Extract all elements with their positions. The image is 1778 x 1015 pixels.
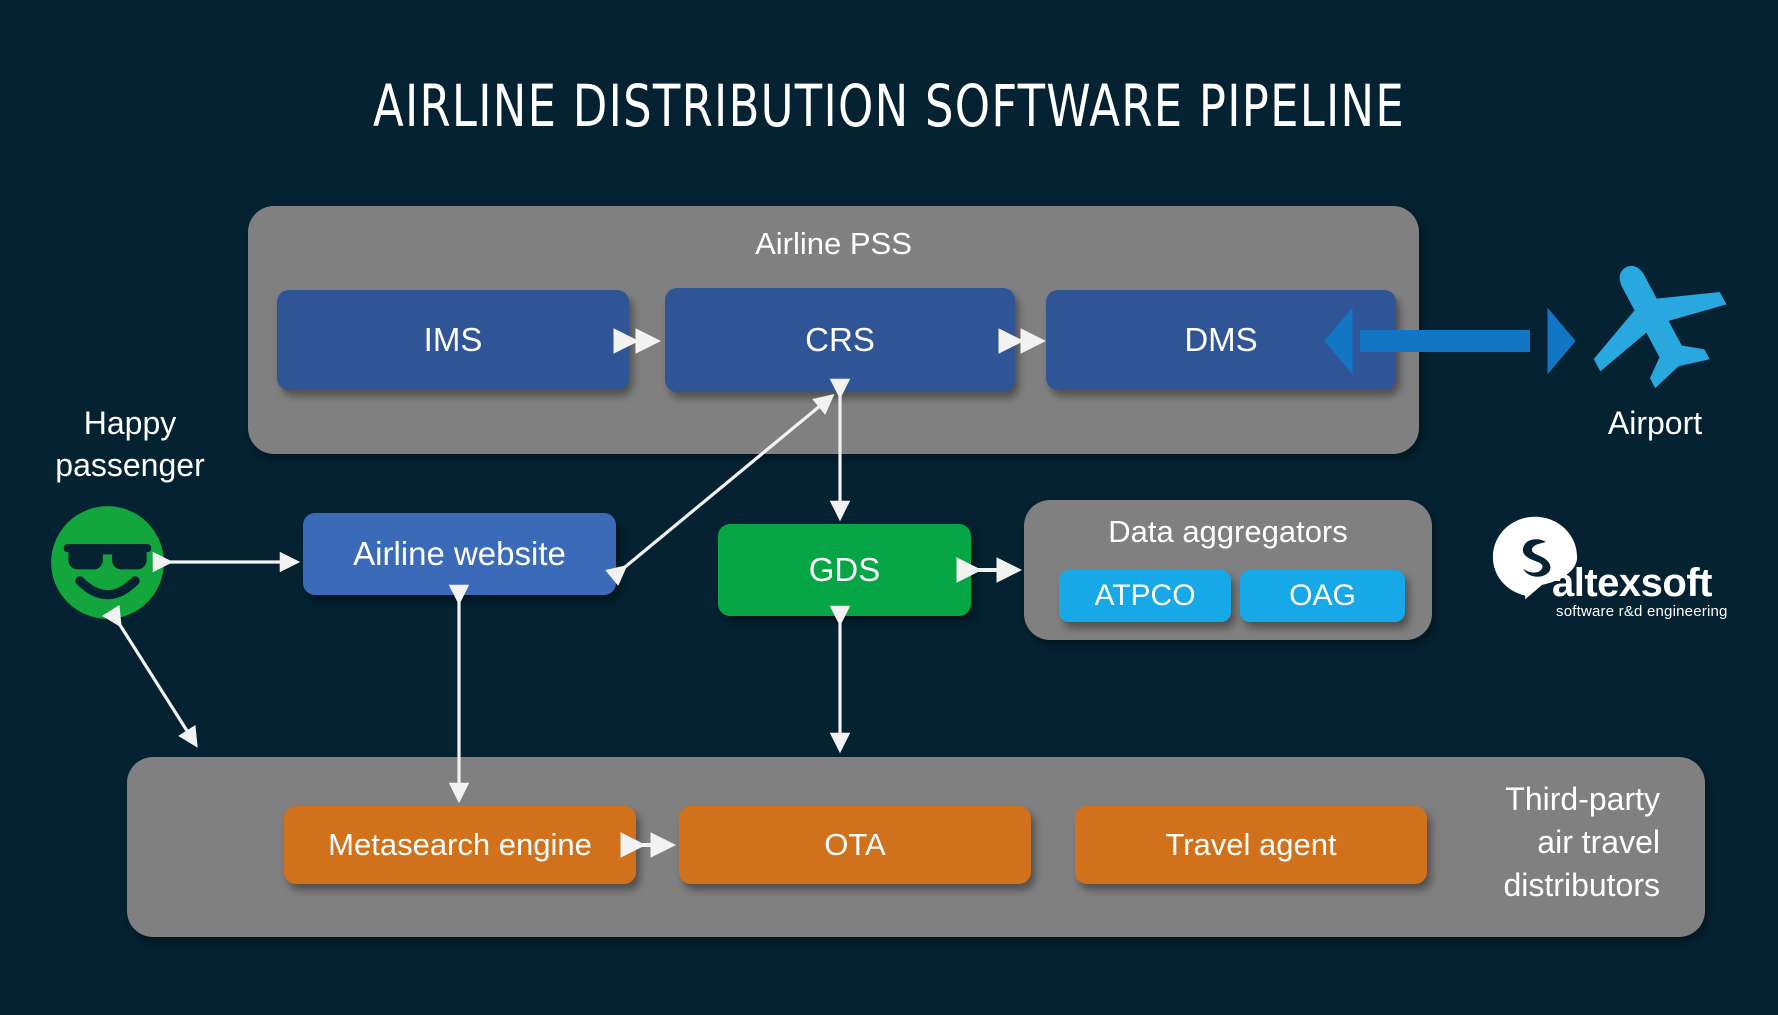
node-oag-label: OAG	[1289, 580, 1356, 612]
node-atpco-label: ATPCO	[1094, 580, 1195, 612]
data-aggregators-title: Data aggregators	[1024, 514, 1432, 550]
node-oag[interactable]: OAG	[1240, 570, 1405, 622]
smiley-sunglasses-icon	[50, 505, 165, 620]
node-ota[interactable]: OTA	[679, 806, 1031, 884]
node-airline-website-label: Airline website	[353, 537, 566, 572]
node-ims-label: IMS	[424, 323, 483, 358]
node-ims[interactable]: IMS	[277, 290, 629, 390]
node-metasearch-engine[interactable]: Metasearch engine	[284, 806, 636, 884]
third-party-caption-line3: distributors	[1400, 867, 1660, 905]
node-airline-website[interactable]: Airline website	[303, 513, 616, 595]
airport-icon	[1572, 248, 1740, 388]
altexsoft-tagline: software r&d engineering	[1556, 603, 1728, 620]
airport-label: Airport	[1560, 405, 1750, 443]
third-party-caption-line1: Third-party	[1400, 781, 1660, 819]
node-dms[interactable]: DMS	[1046, 290, 1396, 390]
node-atpco[interactable]: ATPCO	[1059, 570, 1231, 622]
airline-pss-title: Airline PSS	[248, 226, 1419, 262]
node-travel-agent[interactable]: Travel agent	[1075, 806, 1427, 884]
third-party-caption-line2: air travel	[1400, 824, 1660, 862]
passenger-label-line2: passenger	[20, 447, 240, 485]
node-gds[interactable]: GDS	[718, 524, 971, 616]
node-metasearch-engine-label: Metasearch engine	[328, 829, 592, 862]
passenger-label-line1: Happy	[20, 405, 240, 443]
altexsoft-logo: altexsoft software r&d engineering	[1490, 515, 1760, 625]
arrow-passenger-distributors	[120, 625, 196, 745]
altexsoft-wordmark: altexsoft	[1552, 561, 1712, 606]
node-dms-label: DMS	[1184, 323, 1257, 358]
node-gds-label: GDS	[809, 553, 881, 588]
diagram-canvas: AIRLINE DISTRIBUTION SOFTWARE PIPELINE A…	[0, 0, 1778, 1015]
node-travel-agent-label: Travel agent	[1165, 829, 1336, 862]
node-ota-label: OTA	[824, 829, 885, 862]
node-crs[interactable]: CRS	[665, 288, 1015, 392]
page-title: AIRLINE DISTRIBUTION SOFTWARE PIPELINE	[124, 72, 1653, 140]
node-crs-label: CRS	[805, 323, 875, 358]
